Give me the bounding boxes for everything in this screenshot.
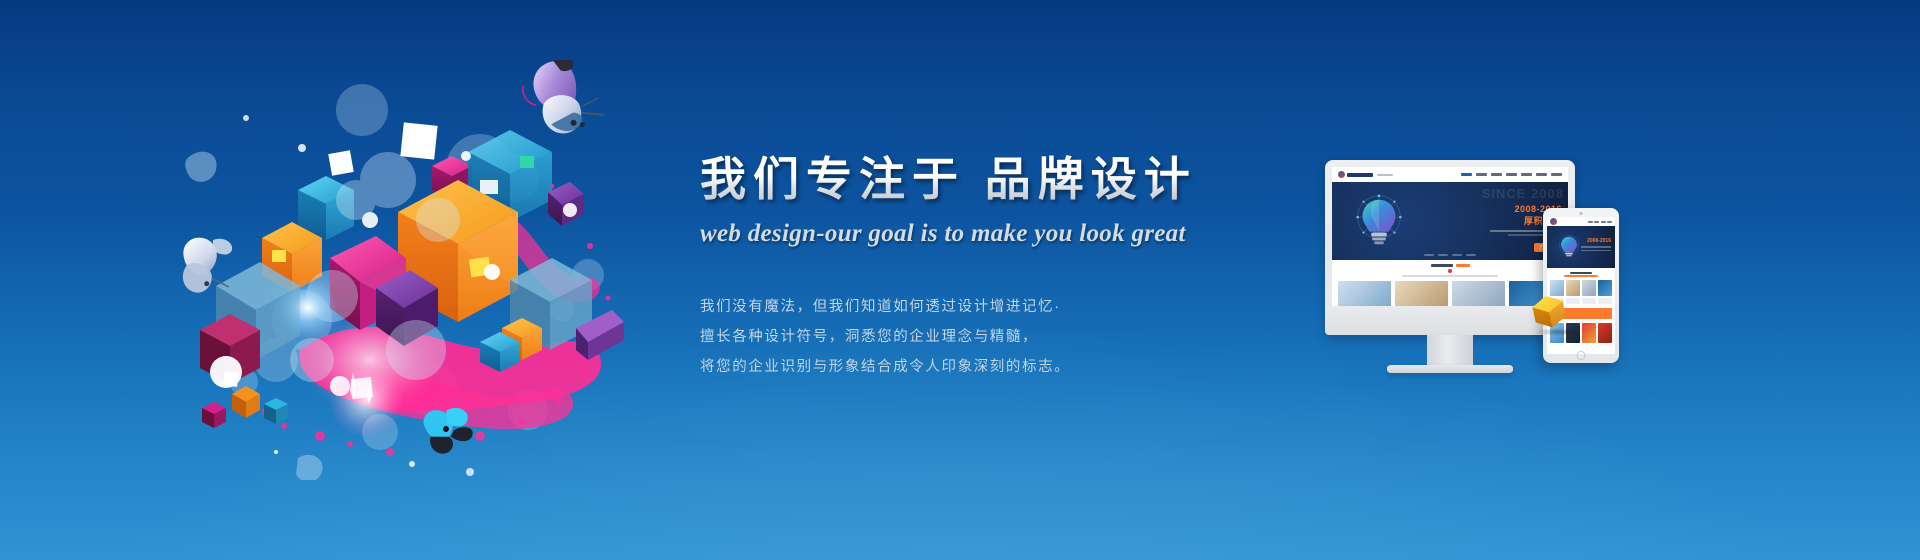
nav-item (1506, 173, 1517, 176)
footer-thumb[interactable] (1582, 323, 1596, 343)
thumbnail-item[interactable] (1582, 280, 1596, 296)
floating-orange-cube (1528, 290, 1570, 332)
nav-item (1491, 173, 1502, 176)
nav-item[interactable] (1601, 221, 1606, 223)
description-line-2: 擅长各种设计符号，洞悉您的企业理念与精髓， (700, 322, 1320, 352)
section-title-bar (1431, 264, 1453, 267)
nav-item[interactable] (1607, 221, 1612, 223)
nav-item (1551, 173, 1562, 176)
butterfly-top-right (516, 60, 606, 141)
mock-site-header (1332, 167, 1568, 182)
nav-item[interactable] (1594, 221, 1599, 223)
mobile-section-accent (1564, 275, 1598, 277)
monitor-base (1387, 365, 1513, 373)
cube-purple-right (548, 182, 584, 226)
mobile-hero-copy: 2008-2016 (1581, 238, 1611, 251)
mobile-site-header (1547, 217, 1615, 226)
section-marker (1448, 269, 1452, 273)
monitor-neck (1427, 335, 1473, 368)
logo-wordmark (1347, 173, 1373, 177)
nav-item[interactable] (1588, 221, 1593, 223)
mobile-device-mockup: 2008-2016 (1543, 208, 1619, 363)
mobile-section-title (1570, 272, 1592, 274)
mock-site-hero: SINCE 2008 (1332, 182, 1568, 260)
mobile-nav[interactable] (1588, 221, 1613, 223)
caption-item (1598, 298, 1612, 304)
petal-shape-lower (296, 455, 323, 480)
page-title: 我们专注于 品牌设计 (700, 152, 1320, 206)
abstract-artwork (180, 60, 660, 480)
thumbnail-item[interactable] (1338, 281, 1391, 306)
logo-tagline (1377, 174, 1393, 176)
carousel-dot[interactable] (1424, 254, 1434, 256)
description-line-3: 将您的企业识别与形象结合成令人印象深刻的标志。 (700, 352, 1320, 382)
nav-item (1521, 173, 1532, 176)
petal-shape (185, 152, 216, 182)
description-lines: 我们没有魔法，但我们知道如何透过设计增进记忆· 擅长各种设计符号，洞悉您的企业理… (700, 292, 1320, 382)
mobile-hero-line (1581, 250, 1611, 252)
description-line-1: 我们没有魔法，但我们知道如何透过设计增进记忆· (700, 292, 1320, 322)
device-mockup-group: SINCE 2008 (1325, 160, 1615, 390)
mobile-hero: 2008-2016 (1547, 226, 1615, 268)
nav-item (1461, 173, 1472, 176)
hero-banner: 我们专注于 品牌设计 web design-our goal is to mak… (0, 0, 1920, 560)
mock-site-logo (1338, 171, 1393, 178)
nav-item (1536, 173, 1547, 176)
nav-item (1476, 173, 1487, 176)
lightbulb-network-icon (1348, 190, 1410, 252)
hero-carousel-dots[interactable] (1424, 254, 1476, 256)
logo-mark-icon (1338, 171, 1345, 178)
page-subtitle: web design-our goal is to make you look … (700, 220, 1320, 248)
thumbnail-item[interactable] (1598, 280, 1612, 296)
hero-copy-block: 我们专注于 品牌设计 web design-our goal is to mak… (700, 152, 1320, 382)
footer-thumb[interactable] (1598, 323, 1612, 343)
home-button-icon[interactable] (1577, 351, 1586, 360)
mobile-hero-line (1581, 246, 1611, 248)
carousel-dot[interactable] (1438, 254, 1448, 256)
lightbulb-network-icon (1554, 232, 1584, 262)
section-title-accent (1456, 264, 1470, 267)
mobile-hero-year: 2008-2016 (1581, 238, 1611, 244)
logo-mark-icon (1550, 218, 1557, 225)
section-description (1402, 275, 1498, 277)
caption-item (1582, 298, 1596, 304)
thumbnail-item[interactable] (1395, 281, 1448, 306)
thumbnail-item[interactable] (1452, 281, 1505, 306)
carousel-dot[interactable] (1452, 254, 1462, 256)
monitor-screen: SINCE 2008 (1332, 167, 1568, 306)
carousel-dot[interactable] (1466, 254, 1476, 256)
cube-scatter-bottom (202, 386, 288, 428)
section-title (1338, 264, 1562, 267)
front-camera-icon (1580, 212, 1583, 215)
mock-site-nav (1461, 173, 1562, 176)
hero-ghost-text: SINCE 2008 (1482, 186, 1564, 201)
